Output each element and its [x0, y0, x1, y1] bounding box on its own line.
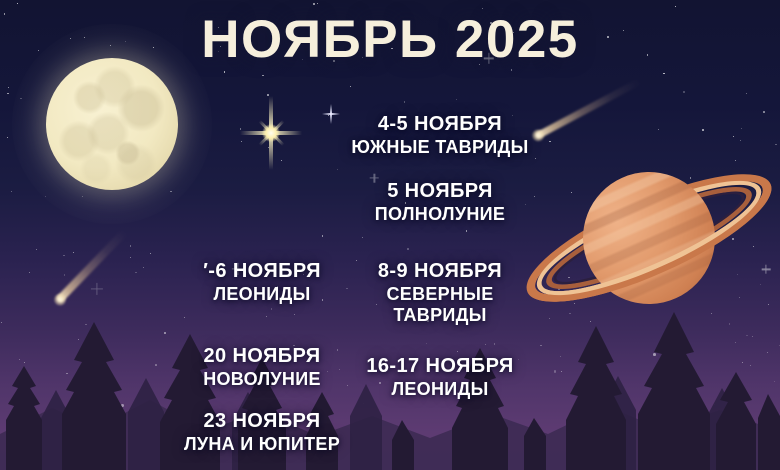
- event-name: ЮЖНЫЕ ТАВРИДЫ: [330, 137, 550, 158]
- background-star: [73, 252, 75, 254]
- november-2025-astronomy-poster: НОЯБРЬ 2025 4-5 НОЯБРЯ ЮЖНЫЕ ТАВРИДЫ 5 Н…: [0, 0, 780, 470]
- event-northern-taurids: 8-9 НОЯБРЯ СЕВЕРНЫЕ ТАВРИДЫ: [330, 260, 550, 326]
- background-star: [150, 253, 151, 254]
- event-name: ПОЛНОЛУНИЕ: [330, 204, 550, 225]
- background-star: [313, 3, 315, 5]
- background-star: [143, 267, 144, 268]
- background-star: [224, 71, 226, 73]
- background-star: [763, 111, 765, 113]
- star-core: [262, 124, 280, 142]
- background-star: [63, 255, 64, 256]
- background-star: [7, 137, 8, 138]
- background-star: [746, 93, 747, 94]
- moon-disc: [46, 58, 178, 190]
- event-date: ′-6 НОЯБРЯ: [172, 260, 352, 284]
- event-leonids-peak: 16-17 НОЯБРЯ ЛЕОНИДЫ: [330, 355, 550, 400]
- event-new-moon: 20 НОЯБРЯ НОВОЛУНИЕ: [172, 345, 352, 390]
- event-name: ЛЕОНИДЫ: [172, 284, 352, 305]
- event-date: 8-9 НОЯБРЯ: [330, 260, 550, 284]
- background-star: [466, 230, 468, 232]
- background-star: [407, 248, 409, 250]
- background-star: [775, 144, 776, 145]
- background-star: [404, 101, 406, 103]
- event-name: СЕВЕРНЫЕ: [330, 284, 550, 305]
- background-star: [683, 91, 685, 93]
- page-title: НОЯБРЬ 2025: [0, 9, 780, 70]
- event-date: 5 НОЯБРЯ: [330, 180, 550, 204]
- background-star: [362, 237, 363, 238]
- background-star: [36, 249, 38, 251]
- background-star: [675, 6, 676, 7]
- sparkle-star-icon: [238, 96, 304, 170]
- event-date: 16-17 НОЯБРЯ: [330, 355, 550, 379]
- background-star: [130, 245, 131, 246]
- event-name: НОВОЛУНИЕ: [172, 369, 352, 390]
- event-date: 20 НОЯБРЯ: [172, 345, 352, 369]
- event-leonids-early: ′-6 НОЯБРЯ ЛЕОНИДЫ: [172, 260, 352, 305]
- background-star: [17, 3, 19, 5]
- background-star: [658, 129, 659, 130]
- background-star: [350, 86, 351, 87]
- event-name: ЛЕОНИДЫ: [330, 379, 550, 400]
- background-star: [663, 73, 665, 75]
- meteor-icon: [534, 78, 641, 140]
- event-name: ЛУНА И ЮПИТЕР: [166, 434, 358, 455]
- background-star: [337, 169, 338, 170]
- event-date: 4-5 НОЯБРЯ: [330, 113, 550, 137]
- background-star: [130, 257, 131, 258]
- event-moon-jupiter: 23 НОЯБРЯ ЛУНА И ЮПИТЕР: [166, 410, 358, 455]
- event-date: 23 НОЯБРЯ: [166, 410, 358, 434]
- background-star: [262, 75, 264, 77]
- background-star: [7, 93, 9, 95]
- event-southern-taurids: 4-5 НОЯБРЯ ЮЖНЫЕ ТАВРИДЫ: [330, 113, 550, 158]
- full-moon-icon: [46, 58, 178, 190]
- background-star: [317, 3, 318, 4]
- event-name-line2: ТАВРИДЫ: [330, 305, 550, 326]
- background-star: [8, 87, 9, 88]
- background-star: [322, 235, 324, 237]
- meteor-tail: [534, 78, 641, 140]
- background-star: [456, 99, 458, 101]
- background-star: [11, 191, 12, 192]
- event-full-moon: 5 НОЯБРЯ ПОЛНОЛУНИЕ: [330, 180, 550, 225]
